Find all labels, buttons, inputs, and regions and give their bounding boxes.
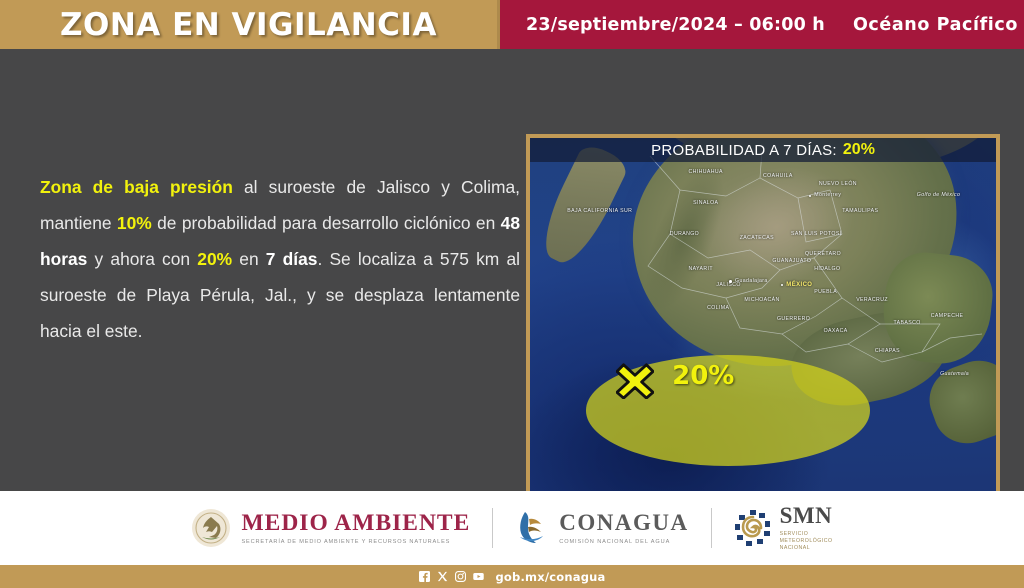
header-meta-block: 23/septiembre/2024 – 06:00 h Océano Pací…: [500, 0, 1024, 49]
page-title: ZONA EN VIGILANCIA: [60, 7, 437, 43]
probability-banner: PROBABILIDAD A 7 DÍAS: 20%: [530, 138, 996, 162]
content-area: Zona de baja presión al suroeste de Jali…: [0, 49, 1024, 491]
bulletin-segment-0: Zona de baja presión: [40, 177, 233, 197]
mexico-eagle-seal-icon: [191, 508, 231, 548]
bulletin-page: ZONA EN VIGILANCIA 23/septiembre/2024 – …: [0, 0, 1024, 588]
bulletin-segment-5: y ahora con: [87, 249, 197, 269]
facebook-icon[interactable]: [419, 571, 430, 582]
x-marker-icon: [616, 361, 654, 399]
probability-label: PROBABILIDAD A 7 DÍAS:: [651, 142, 837, 159]
conagua-subtitle: COMISIÓN NACIONAL DEL AGUA: [559, 539, 688, 545]
page-header: ZONA EN VIGILANCIA 23/septiembre/2024 – …: [0, 0, 1024, 49]
watch-area-probability: 20%: [672, 361, 734, 391]
smn-subtitle-line-1: METEOROLÓGICO: [780, 538, 833, 545]
probability-value: 20%: [843, 141, 875, 159]
instagram-icon[interactable]: [455, 571, 466, 582]
bulletin-segment-7: en: [232, 249, 266, 269]
bottom-social-bar: gob.mx/conagua: [0, 565, 1024, 588]
forecast-map-panel[interactable]: BAJA CALIFORNIA SURSINALOADURANGOCHIHUAH…: [526, 134, 1000, 530]
bulletin-text: Zona de baja presión al suroeste de Jali…: [40, 169, 520, 349]
ocean-basin-label: Océano Pacífico: [853, 15, 1018, 35]
bulletin-segment-3: de probabilidad para desarrollo ciclónic…: [152, 213, 501, 233]
state-borders: [530, 138, 996, 526]
logo-medio-ambiente: MEDIO AMBIENTE SECRETARÍA DE MEDIO AMBIE…: [169, 508, 492, 548]
bulletin-segment-8: 7 días: [266, 249, 318, 269]
medio-ambiente-subtitle: SECRETARÍA DE MEDIO AMBIENTE Y RECURSOS …: [241, 539, 470, 545]
smn-subtitle: SERVICIOMETEOROLÓGICONACIONAL: [780, 531, 833, 552]
bulletin-segment-6: 20%: [197, 249, 232, 269]
bulletin-segment-2: 10%: [117, 213, 152, 233]
medio-ambiente-title: MEDIO AMBIENTE: [241, 511, 470, 536]
x-twitter-icon[interactable]: [437, 571, 448, 582]
header-title-block: ZONA EN VIGILANCIA: [0, 0, 500, 49]
conagua-url[interactable]: gob.mx/conagua: [496, 570, 606, 584]
youtube-icon[interactable]: [473, 571, 484, 582]
medio-ambiente-text: MEDIO AMBIENTE SECRETARÍA DE MEDIO AMBIE…: [241, 511, 470, 545]
bulletin-datetime: 23/septiembre/2024 – 06:00 h: [526, 15, 825, 35]
map-canvas: BAJA CALIFORNIA SURSINALOADURANGOCHIHUAH…: [530, 138, 996, 526]
smn-subtitle-line-2: NACIONAL: [780, 545, 833, 552]
smn-subtitle-line-0: SERVICIO: [780, 531, 833, 538]
